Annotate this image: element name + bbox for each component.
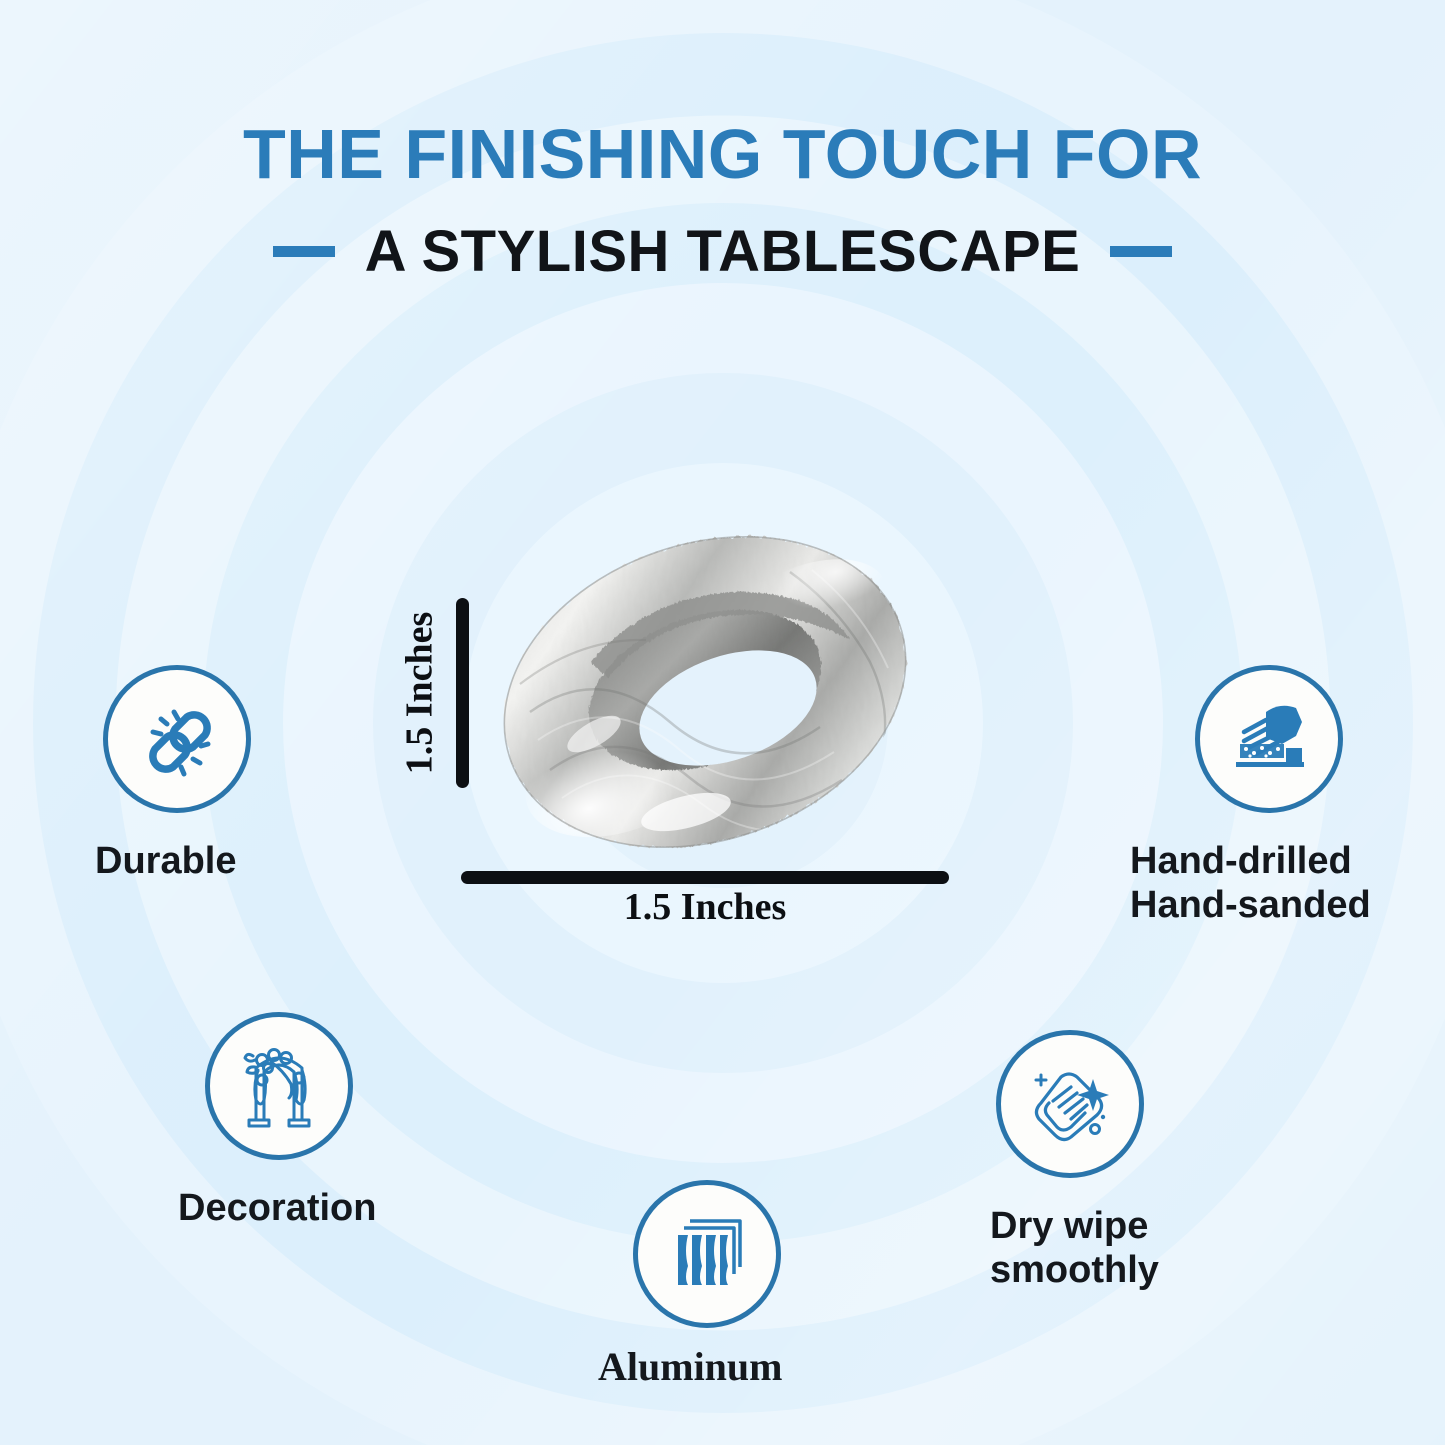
feature-aluminum-badge xyxy=(633,1180,781,1328)
chain-link-icon xyxy=(131,693,223,785)
width-dimension-rule xyxy=(461,871,949,884)
hand-cleaning-cloth-icon xyxy=(1023,1057,1117,1151)
feature-hand-finished-badge xyxy=(1195,665,1343,813)
dash-accent-left-icon xyxy=(273,246,335,257)
width-dimension-label: 1.5 Inches xyxy=(461,885,949,929)
feature-decoration-label: Decoration xyxy=(178,1186,376,1230)
height-dimension-rule xyxy=(456,598,469,788)
feature-durable-badge xyxy=(103,665,251,813)
feature-dry-wipe-badge xyxy=(996,1030,1144,1178)
feature-hand-finished-label: Hand-drilled Hand-sanded xyxy=(1130,839,1371,927)
subheadline-row: A STYLISH TABLESCAPE xyxy=(0,218,1445,285)
height-dimension-label-wrap: 1.5 Inches xyxy=(389,597,449,789)
floral-arch-icon xyxy=(231,1038,327,1134)
page-subtitle: A STYLISH TABLESCAPE xyxy=(365,218,1081,285)
feature-aluminum-label: Aluminum xyxy=(598,1344,783,1390)
feature-dry-wipe: Dry wipe smoothly xyxy=(996,1030,1159,1292)
dash-accent-right-icon xyxy=(1110,246,1172,257)
headline-block: THE FINISHING TOUCH FOR A STYLISH TABLES… xyxy=(0,118,1445,285)
hand-sanding-icon xyxy=(1222,692,1316,786)
feature-decoration: Decoration xyxy=(205,1012,376,1230)
feature-decoration-badge xyxy=(205,1012,353,1160)
feature-aluminum: Aluminum xyxy=(633,1180,783,1390)
feature-hand-finished: Hand-drilled Hand-sanded xyxy=(1195,665,1371,927)
product-infographic-poster: THE FINISHING TOUCH FOR A STYLISH TABLES… xyxy=(0,0,1445,1445)
product-napkin-ring-image xyxy=(490,512,920,867)
feature-durable-label: Durable xyxy=(95,839,251,883)
metal-sheets-icon xyxy=(662,1209,752,1299)
height-dimension-label: 1.5 Inches xyxy=(397,612,441,775)
feature-dry-wipe-label: Dry wipe smoothly xyxy=(990,1204,1159,1292)
page-title: THE FINISHING TOUCH FOR xyxy=(0,118,1445,192)
feature-durable: Durable xyxy=(103,665,251,883)
